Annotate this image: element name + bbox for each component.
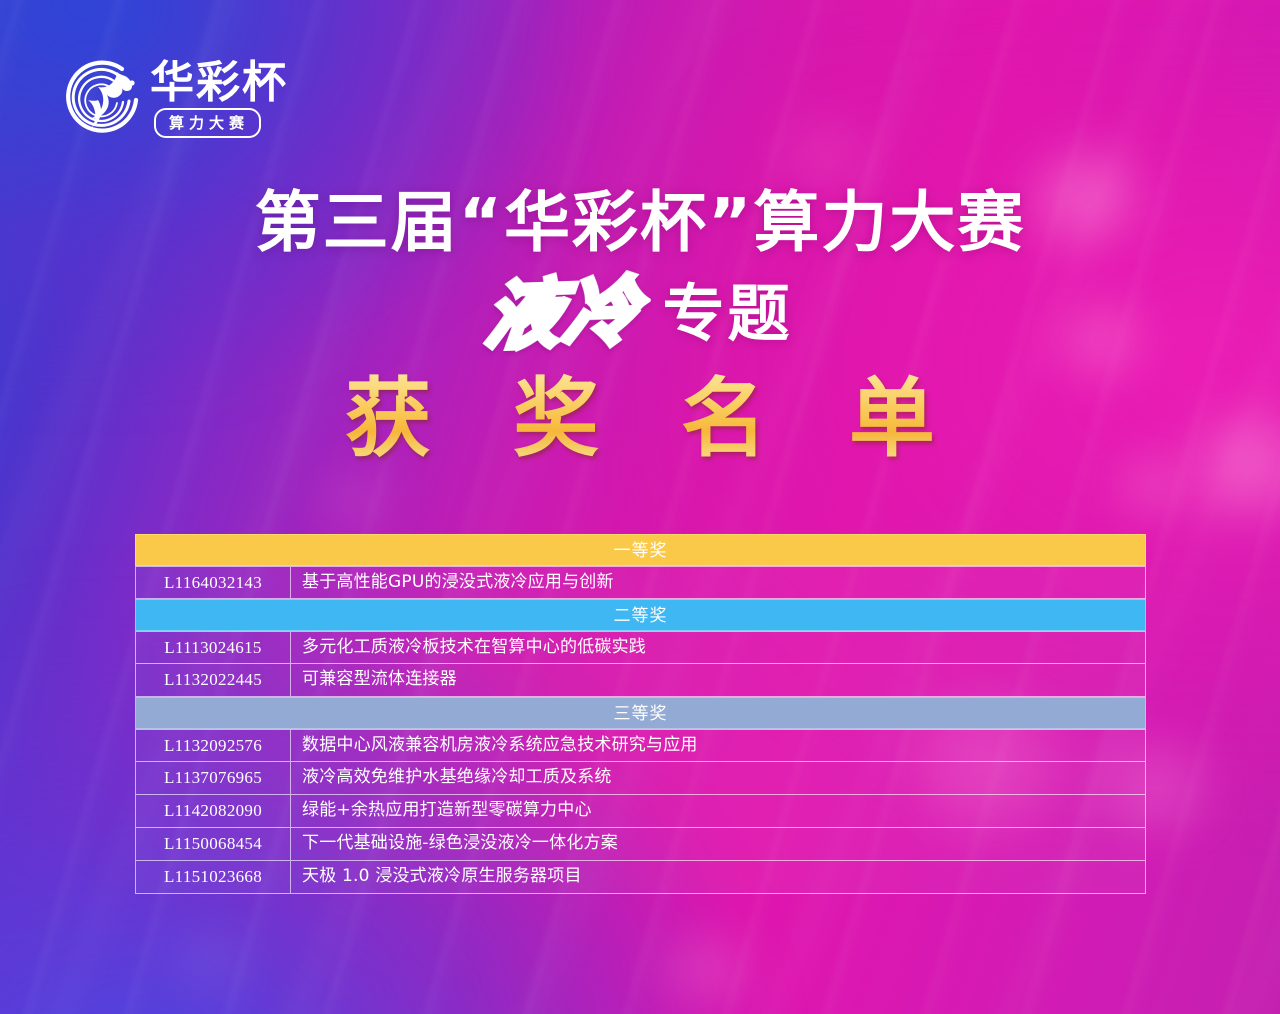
award-list-heading: 获 奖 名 单 bbox=[0, 367, 1280, 471]
entry-id: L1137076965 bbox=[136, 762, 291, 794]
table-row: L1151023668天极 1.0 浸没式液冷原生服务器项目 bbox=[135, 861, 1146, 894]
brand-logo: 华彩杯 算力大赛 bbox=[62, 52, 282, 148]
entry-title: 可兼容型流体连接器 bbox=[291, 664, 1145, 696]
table-row: L1142082090绿能+余热应用打造新型零碳算力中心 bbox=[135, 795, 1146, 828]
table-row: L1150068454下一代基础设施-绿色浸没液冷一体化方案 bbox=[135, 828, 1146, 861]
headline-block: 第三届“华彩杯”算力大赛 液冷 专题 获 奖 名 单 bbox=[0, 182, 1280, 471]
subtitle-plain-text: 专题 bbox=[663, 271, 793, 357]
entry-title: 下一代基础设施-绿色浸没液冷一体化方案 bbox=[291, 828, 1145, 860]
entry-id: L1151023668 bbox=[136, 861, 291, 893]
award-category-header: 一等奖 bbox=[135, 534, 1146, 566]
entry-title: 数据中心风液兼容机房液冷系统应急技术研究与应用 bbox=[291, 730, 1145, 761]
table-row: L1137076965液冷高效免维护水基绝缘冷却工质及系统 bbox=[135, 762, 1146, 795]
entry-id: L1132092576 bbox=[136, 730, 291, 761]
entry-title: 基于高性能GPU的浸没式液冷应用与创新 bbox=[291, 567, 1145, 598]
entry-title: 绿能+余热应用打造新型零碳算力中心 bbox=[291, 795, 1145, 827]
entry-title: 多元化工质液冷板技术在智算中心的低碳实践 bbox=[291, 632, 1145, 663]
entry-id: L1150068454 bbox=[136, 828, 291, 860]
award-category-header: 二等奖 bbox=[135, 599, 1146, 631]
page-title: 第三届“华彩杯”算力大赛 bbox=[0, 182, 1280, 264]
entry-id: L1142082090 bbox=[136, 795, 291, 827]
poster: 华彩杯 算力大赛 第三届“华彩杯”算力大赛 液冷 专题 获 奖 名 单 一等奖L… bbox=[0, 0, 1280, 1014]
entry-title: 天极 1.0 浸没式液冷原生服务器项目 bbox=[291, 861, 1145, 893]
brand-badge: 算力大赛 bbox=[154, 108, 261, 138]
entry-title: 液冷高效免维护水基绝缘冷却工质及系统 bbox=[291, 762, 1145, 794]
award-category-header: 三等奖 bbox=[135, 697, 1146, 729]
subtitle-line: 液冷 专题 bbox=[0, 270, 1280, 357]
table-row: L1132022445可兼容型流体连接器 bbox=[135, 664, 1146, 697]
table-row: L1113024615多元化工质液冷板技术在智算中心的低碳实践 bbox=[135, 631, 1146, 664]
table-row: L1132092576数据中心风液兼容机房液冷系统应急技术研究与应用 bbox=[135, 729, 1146, 762]
entry-id: L1164032143 bbox=[136, 567, 291, 598]
entry-id: L1132022445 bbox=[136, 664, 291, 696]
subtitle-script-text: 液冷 bbox=[483, 268, 647, 359]
entry-id: L1113024615 bbox=[136, 632, 291, 663]
phoenix-swirl-logo-icon bbox=[62, 56, 146, 140]
table-row: L1164032143基于高性能GPU的浸没式液冷应用与创新 bbox=[135, 566, 1146, 599]
brand-wordmark: 华彩杯 bbox=[150, 58, 288, 108]
award-list-table: 一等奖L1164032143基于高性能GPU的浸没式液冷应用与创新二等奖L111… bbox=[135, 534, 1146, 894]
